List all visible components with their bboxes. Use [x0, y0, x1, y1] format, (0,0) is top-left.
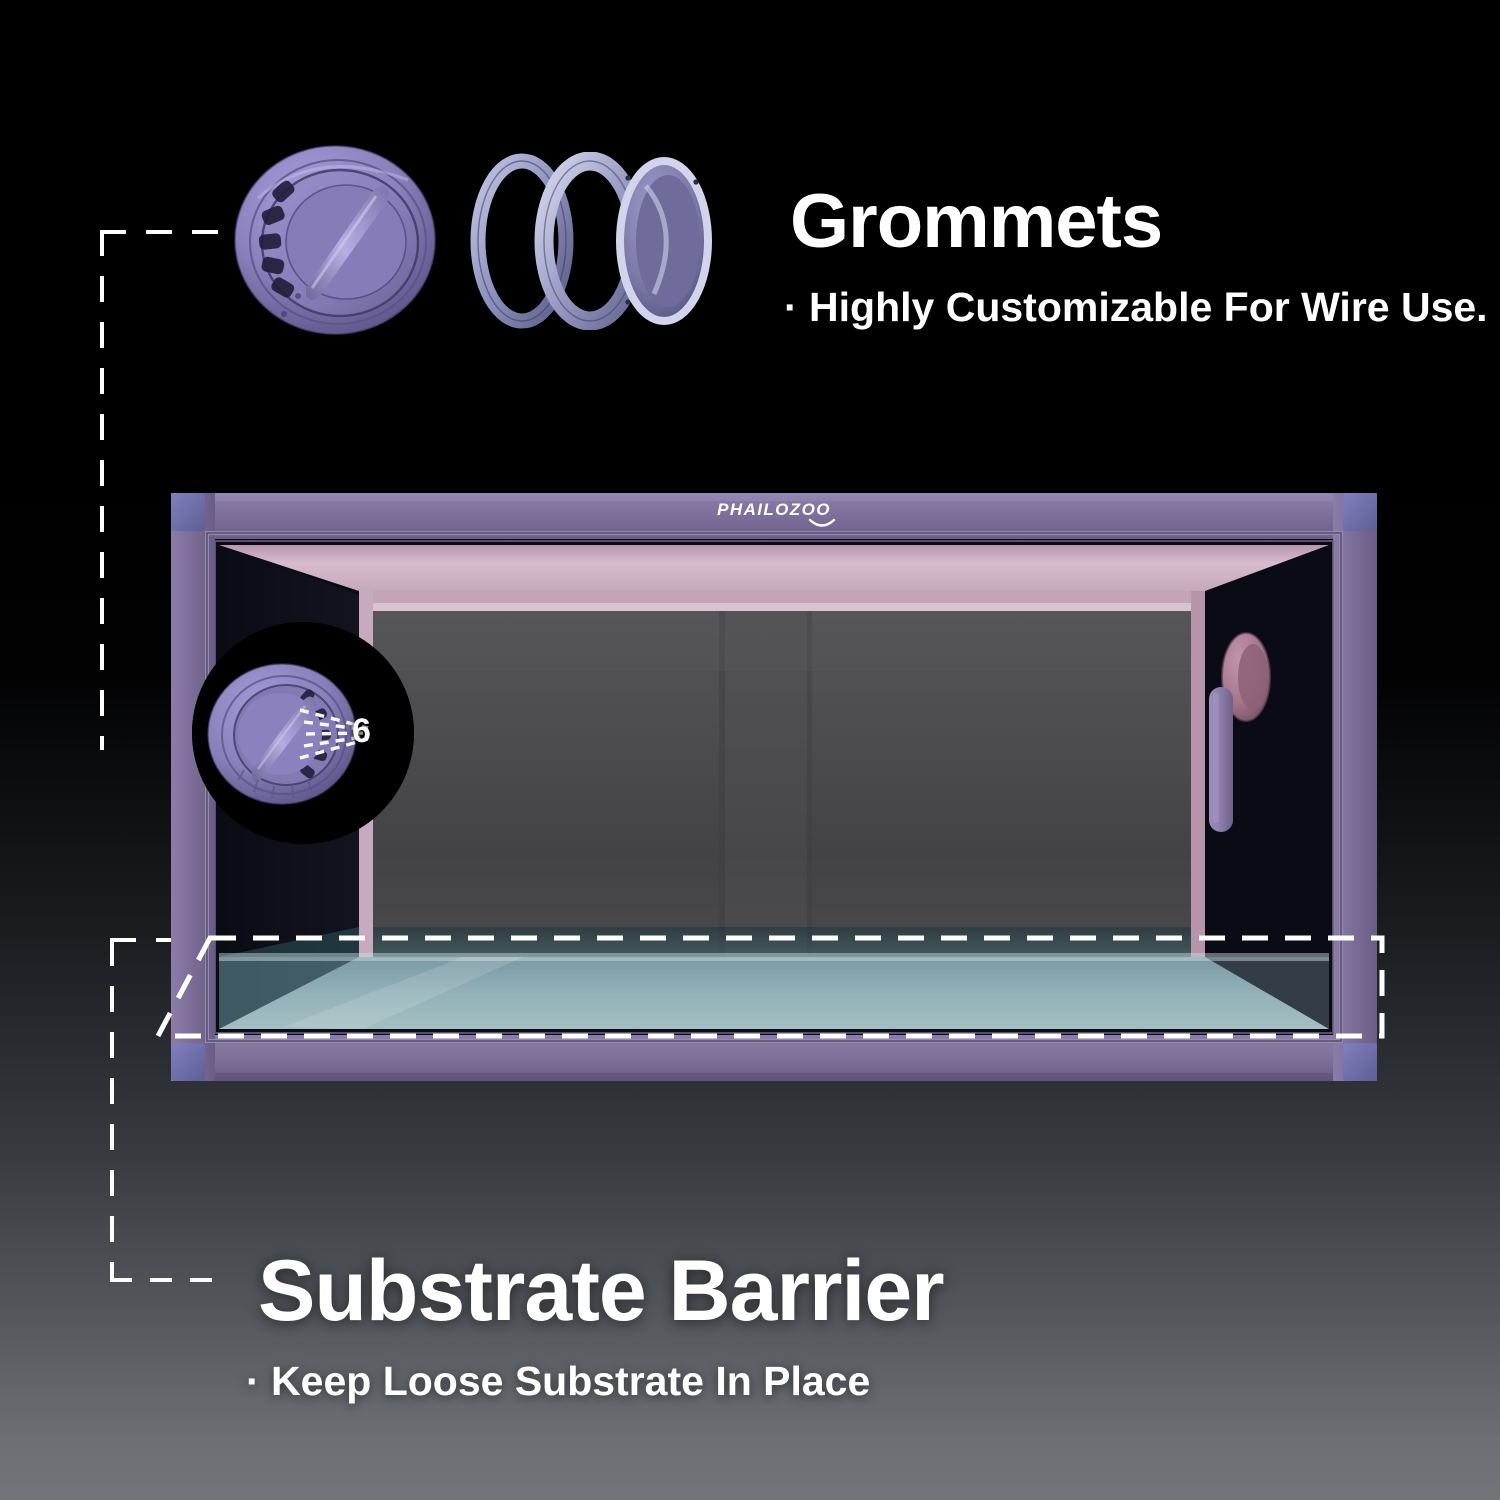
substrate-barrier-highlight — [150, 910, 1390, 1070]
grommet-zoom-callout — [192, 622, 414, 844]
substrate-heading: Substrate Barrier — [258, 1242, 944, 1341]
substrate-subtitle: · Keep Loose Substrate In Place — [246, 1358, 870, 1405]
grommet-assembly-render — [228, 138, 446, 338]
grommets-subtitle: · Highly Customizable For Wire Use. — [784, 284, 1488, 331]
substrate-callout-dash-vertical — [110, 940, 114, 1280]
grommet-callout-dash-horizontal — [100, 230, 228, 234]
grommet-count-badge: 6 — [352, 712, 371, 751]
grommet-rings-exploded-render — [468, 152, 716, 330]
svg-text:PHAILOZOO: PHAILOZOO — [717, 500, 831, 519]
product-feature-graphic: Grommets · Highly Customizable For Wire … — [0, 0, 1500, 1500]
grommets-heading: Grommets — [790, 178, 1162, 265]
grommet-callout-dash-vertical — [100, 230, 104, 750]
substrate-callout-dash-bottom — [110, 1278, 228, 1282]
